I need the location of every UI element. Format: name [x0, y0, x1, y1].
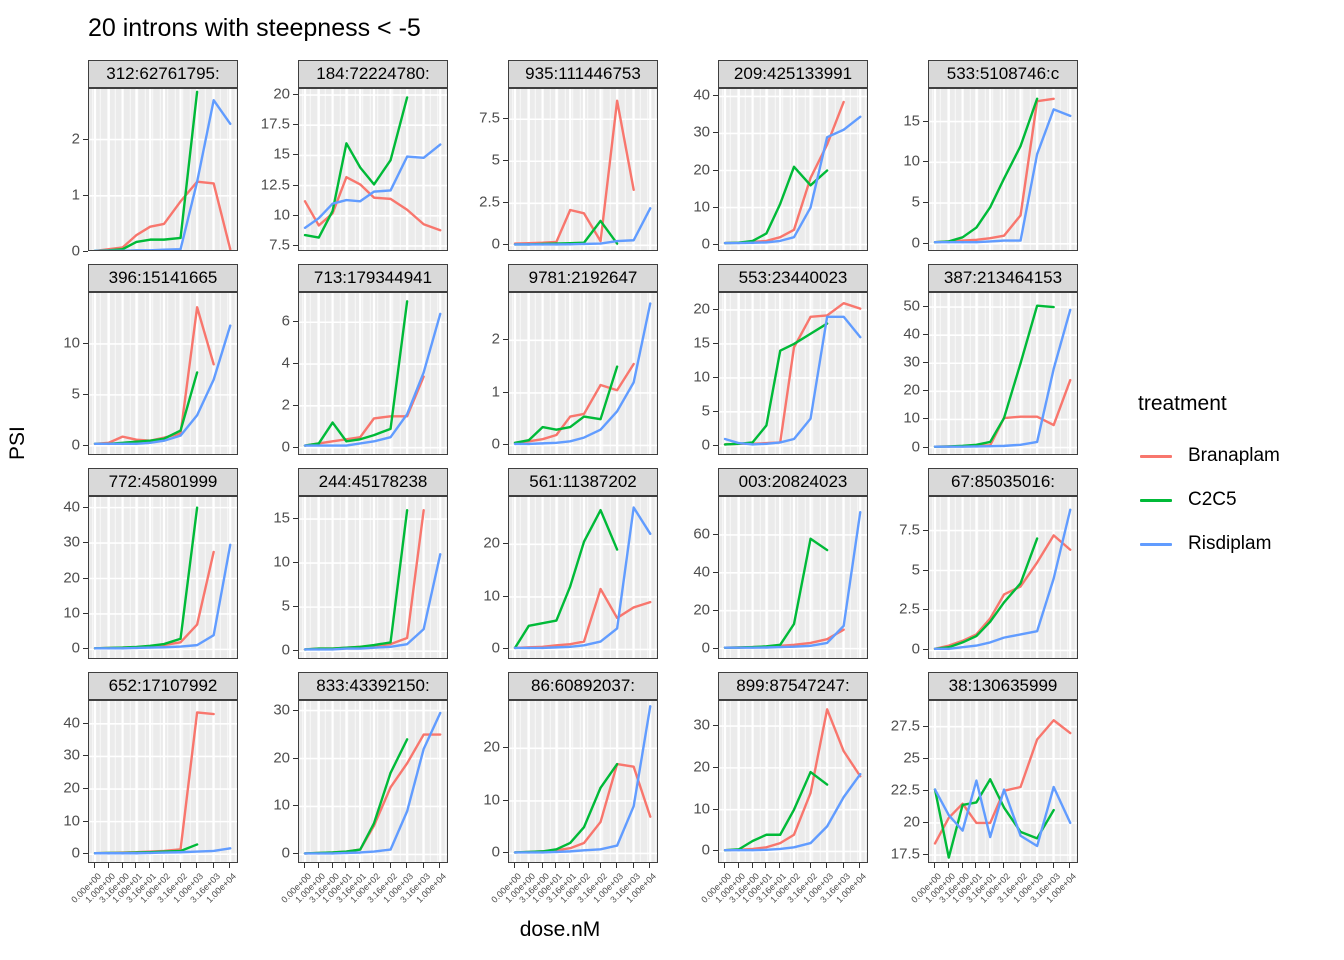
series-line-c2c5	[515, 510, 617, 648]
y-tick-label: 0	[702, 639, 710, 656]
legend-line-swatch	[1140, 499, 1172, 502]
facet-strip-label: 184:72224780:	[298, 60, 448, 88]
facet-strip-text: 772:45801999	[109, 472, 218, 492]
y-axis: 17.52022.52527.5	[868, 700, 928, 863]
y-tick-label: 10	[483, 791, 500, 808]
y-tick-label: 0	[702, 436, 710, 453]
x-tick-mark	[616, 863, 617, 868]
y-tick-label: 0	[702, 842, 710, 859]
legend-title: treatment	[1138, 392, 1280, 416]
y-tick-label: 20	[693, 300, 710, 317]
y-tick-label: 15	[903, 112, 920, 129]
facet-strip-label: 244:45178238	[298, 468, 448, 496]
x-tick-mark	[345, 863, 346, 868]
plot-panel	[718, 88, 868, 251]
y-tick-label: 17.5	[261, 116, 290, 133]
facet-panel: 244:45178238051015	[238, 468, 448, 659]
facet-strip-label: 652:17107992	[88, 672, 238, 700]
x-tick-mark	[318, 863, 319, 868]
x-tick-mark	[229, 863, 230, 868]
facet-strip-label: 9781:2192647	[508, 264, 658, 292]
y-tick-label: 22.5	[891, 781, 920, 798]
plot-panel	[718, 292, 868, 455]
x-tick-mark	[989, 863, 990, 868]
facet-strip-text: 003:20824023	[739, 472, 848, 492]
y-tick-label: 0	[492, 640, 500, 657]
y-axis: 0102030	[238, 700, 298, 863]
facet-grid: 312:62761795:012184:72224780:7.51012.515…	[0, 60, 1125, 860]
series-line-branaplam	[515, 101, 634, 244]
y-tick-label: 27.5	[891, 717, 920, 734]
facet-strip-label: 209:425133991	[718, 60, 868, 88]
series-line-c2c5	[305, 739, 407, 853]
series-line-branaplam	[305, 510, 424, 649]
x-tick-mark	[1036, 863, 1037, 868]
y-tick-label: 10	[693, 800, 710, 817]
y-tick-label: 10	[693, 198, 710, 215]
y-tick-label: 12.5	[261, 176, 290, 193]
y-tick-label: 0	[702, 235, 710, 252]
y-tick-label: 30	[693, 124, 710, 141]
x-tick-mark	[135, 863, 136, 868]
y-tick-label: 10	[693, 368, 710, 385]
facet-panel: 86:60892037:010200.00e+001.00e+003.16e+0…	[448, 672, 658, 863]
x-tick-mark	[373, 863, 374, 868]
facet-strip-label: 86:60892037:	[508, 672, 658, 700]
y-axis: 051015	[868, 88, 928, 251]
y-axis: 05101520	[658, 292, 718, 455]
x-tick-mark	[180, 863, 181, 868]
facet-panel: 312:62761795:012	[28, 60, 238, 251]
facet-panel: 561:1138720201020	[448, 468, 658, 659]
series-line-c2c5	[95, 92, 197, 251]
facet-strip-text: 209:425133991	[734, 64, 852, 84]
x-tick-mark	[810, 863, 811, 868]
y-axis: 02.557.5	[868, 496, 928, 659]
series-line-branaplam	[305, 377, 424, 446]
y-axis: 0204060	[658, 496, 718, 659]
y-tick-label: 20	[63, 780, 80, 797]
y-tick-label: 2	[492, 331, 500, 348]
y-axis: 010203040	[658, 88, 718, 251]
plot-panel	[88, 292, 238, 455]
plot-panel	[508, 700, 658, 863]
y-tick-label: 5	[912, 561, 920, 578]
facet-strip-label: 935:111446753	[508, 60, 658, 88]
x-axis: 0.00e+001.00e+003.16e+001.00e+013.16e+01…	[508, 863, 658, 923]
x-axis: 0.00e+001.00e+003.16e+001.00e+013.16e+01…	[298, 863, 448, 923]
x-tick-mark	[332, 863, 333, 868]
x-tick-mark	[1020, 863, 1021, 868]
series-line-c2c5	[725, 324, 827, 445]
y-tick-label: 20	[693, 601, 710, 618]
legend-key-icon	[1138, 489, 1174, 511]
y-tick-label: 1	[492, 383, 500, 400]
series-line-branaplam	[95, 552, 214, 648]
y-tick-label: 17.5	[891, 846, 920, 863]
plot-panel	[718, 496, 868, 659]
facet-panel: 833:43392150:01020300.00e+001.00e+003.16…	[238, 672, 448, 863]
facet-strip-text: 899:87547247:	[736, 676, 849, 696]
y-tick-label: 30	[63, 534, 80, 551]
x-tick-mark	[514, 863, 515, 868]
x-tick-mark	[843, 863, 844, 868]
y-axis: 0102030	[658, 700, 718, 863]
y-tick-label: 20	[63, 569, 80, 586]
facet-strip-text: 67:85035016:	[951, 472, 1055, 492]
legend-item-risdiplam[interactable]: Risdiplam	[1138, 522, 1280, 566]
x-tick-mark	[1003, 863, 1004, 868]
y-tick-label: 30	[903, 354, 920, 371]
x-tick-mark	[633, 863, 634, 868]
y-tick-label: 0	[492, 436, 500, 453]
series-line-c2c5	[935, 539, 1037, 649]
y-tick-label: 6	[282, 313, 290, 330]
plot-panel	[88, 88, 238, 251]
plot-panel	[508, 292, 658, 455]
x-tick-mark	[1069, 863, 1070, 868]
x-tick-mark	[962, 863, 963, 868]
facet-panel: 67:85035016:02.557.5	[868, 468, 1078, 659]
series-line-c2c5	[935, 306, 1054, 447]
legend-key-icon	[1138, 533, 1174, 555]
y-axis: 01020	[448, 496, 508, 659]
facet-strip-text: 86:60892037:	[531, 676, 635, 696]
facet-panel: 184:72224780:7.51012.51517.520	[238, 60, 448, 251]
legend-item-label: Risdiplam	[1188, 533, 1271, 555]
y-tick-label: 2.5	[899, 601, 920, 618]
series-line-c2c5	[935, 99, 1037, 242]
facet-strip-label: 553:23440023	[718, 264, 868, 292]
series-line-c2c5	[305, 510, 407, 649]
page-title: 20 introns with steepness < -5	[88, 14, 421, 43]
x-tick-mark	[1053, 863, 1054, 868]
facet-strip-text: 561:11387202	[529, 472, 636, 492]
facet-strip-label: 533:5108746:c	[928, 60, 1078, 88]
y-axis: 02.557.5	[448, 88, 508, 251]
facet-panel: 9781:2192647012	[448, 264, 658, 455]
x-tick-mark	[196, 863, 197, 868]
y-tick-label: 15	[273, 510, 290, 527]
y-tick-label: 0	[72, 845, 80, 862]
x-axis: 0.00e+001.00e+003.16e+001.00e+013.16e+01…	[88, 863, 238, 923]
facet-strip-text: 652:17107992	[109, 676, 218, 696]
x-tick-mark	[600, 863, 601, 868]
facet-strip-label: 38:130635999	[928, 672, 1078, 700]
y-tick-label: 20	[483, 739, 500, 756]
legend-item-c2c5[interactable]: C2C5	[1138, 478, 1280, 522]
series-line-branaplam	[95, 712, 214, 853]
series-line-branaplam	[515, 364, 634, 443]
legend-key-icon	[1138, 445, 1174, 467]
y-tick-label: 1	[72, 186, 80, 203]
facet-panel: 387:21346415301020304050	[868, 264, 1078, 455]
y-tick-label: 10	[903, 410, 920, 427]
facet-strip-text: 935:111446753	[525, 64, 641, 84]
y-tick-label: 40	[63, 714, 80, 731]
y-tick-label: 25	[903, 749, 920, 766]
y-tick-label: 5	[702, 402, 710, 419]
y-axis: 7.51012.51517.520	[238, 88, 298, 251]
x-axis: 0.00e+001.00e+003.16e+001.00e+013.16e+01…	[928, 863, 1078, 923]
y-tick-label: 10	[63, 812, 80, 829]
plot-panel	[298, 292, 448, 455]
series-line-branaplam	[935, 99, 1054, 242]
x-tick-mark	[752, 863, 753, 868]
y-tick-label: 15	[273, 146, 290, 163]
y-axis: 012	[448, 292, 508, 455]
y-tick-label: 15	[693, 334, 710, 351]
y-tick-label: 0	[282, 642, 290, 659]
facet-panel: 396:151416650510	[28, 264, 238, 455]
legend: treatment BranaplamC2C5Risdiplam	[1138, 392, 1280, 566]
facet-strip-text: 9781:2192647	[529, 268, 638, 288]
y-axis: 051015	[238, 496, 298, 659]
y-tick-label: 7.5	[269, 236, 290, 253]
y-tick-label: 2.5	[479, 194, 500, 211]
facet-strip-label: 67:85035016:	[928, 468, 1078, 496]
x-tick-mark	[738, 863, 739, 868]
y-tick-label: 10	[483, 587, 500, 604]
plot-panel	[718, 700, 868, 863]
x-tick-mark	[149, 863, 150, 868]
x-tick-mark	[724, 863, 725, 868]
x-tick-mark	[163, 863, 164, 868]
x-tick-mark	[934, 863, 935, 868]
x-tick-mark	[583, 863, 584, 868]
x-tick-mark	[859, 863, 860, 868]
y-tick-label: 0	[282, 845, 290, 862]
y-tick-label: 7.5	[899, 521, 920, 538]
y-tick-label: 30	[693, 717, 710, 734]
plot-panel	[508, 88, 658, 251]
chart-root: 20 introns with steepness < -5 PSI dose.…	[0, 0, 1344, 960]
facet-strip-label: 387:213464153	[928, 264, 1078, 292]
y-axis: 01020304050	[868, 292, 928, 455]
y-tick-label: 20	[903, 382, 920, 399]
y-tick-label: 0	[912, 641, 920, 658]
x-tick-mark	[569, 863, 570, 868]
x-tick-mark	[765, 863, 766, 868]
x-tick-mark	[439, 863, 440, 868]
x-tick-mark	[390, 863, 391, 868]
x-axis: 0.00e+001.00e+003.16e+001.00e+013.16e+01…	[718, 863, 868, 923]
facet-strip-text: 387:213464153	[944, 268, 1062, 288]
facet-panel: 209:425133991010203040	[658, 60, 868, 251]
y-tick-label: 5	[282, 598, 290, 615]
facet-strip-text: 38:130635999	[949, 676, 1058, 696]
y-tick-label: 2	[72, 130, 80, 147]
legend-line-swatch	[1140, 543, 1172, 546]
facet-strip-text: 312:62761795:	[106, 64, 219, 84]
x-tick-mark	[406, 863, 407, 868]
y-tick-label: 0	[72, 243, 80, 260]
y-axis: 010203040	[28, 496, 88, 659]
plot-panel	[298, 88, 448, 251]
facet-panel: 003:208240230204060	[658, 468, 868, 659]
plot-panel	[928, 88, 1078, 251]
plot-panel	[928, 496, 1078, 659]
y-axis: 01020	[448, 700, 508, 863]
y-tick-label: 10	[273, 554, 290, 571]
x-tick-mark	[948, 863, 949, 868]
x-tick-mark	[122, 863, 123, 868]
legend-item-label: C2C5	[1188, 489, 1237, 511]
facet-panel: 713:1793449410246	[238, 264, 448, 455]
plot-panel	[298, 496, 448, 659]
y-tick-label: 20	[693, 758, 710, 775]
y-tick-label: 0	[72, 640, 80, 657]
y-tick-label: 2	[282, 396, 290, 413]
y-tick-label: 10	[903, 153, 920, 170]
facet-strip-label: 772:45801999	[88, 468, 238, 496]
y-tick-label: 7.5	[479, 110, 500, 127]
plot-panel	[928, 292, 1078, 455]
facet-strip-label: 561:11387202	[508, 468, 658, 496]
y-tick-label: 5	[492, 152, 500, 169]
series-line-c2c5	[515, 367, 617, 443]
facet-strip-label: 833:43392150:	[298, 672, 448, 700]
facet-strip-text: 833:43392150:	[316, 676, 429, 696]
plot-panel	[88, 700, 238, 863]
y-tick-label: 4	[282, 355, 290, 372]
y-tick-label: 40	[903, 326, 920, 343]
x-tick-mark	[213, 863, 214, 868]
y-tick-label: 0	[492, 236, 500, 253]
y-tick-label: 10	[63, 604, 80, 621]
facet-panel: 899:87547247:01020300.00e+001.00e+003.16…	[658, 672, 868, 863]
legend-line-swatch	[1140, 455, 1172, 458]
facet-strip-text: 244:45178238	[319, 472, 428, 492]
y-tick-label: 30	[63, 747, 80, 764]
x-tick-mark	[304, 863, 305, 868]
y-tick-label: 40	[693, 87, 710, 104]
y-tick-label: 40	[693, 563, 710, 580]
y-tick-label: 20	[483, 535, 500, 552]
y-tick-label: 5	[912, 194, 920, 211]
y-tick-label: 30	[273, 701, 290, 718]
y-tick-mark	[83, 251, 88, 252]
y-tick-label: 0	[72, 436, 80, 453]
y-axis: 012	[28, 88, 88, 251]
facet-strip-label: 396:15141665	[88, 264, 238, 292]
x-tick-mark	[649, 863, 650, 868]
x-tick-mark	[108, 863, 109, 868]
y-tick-label: 0	[912, 438, 920, 455]
x-tick-mark	[528, 863, 529, 868]
series-line-c2c5	[725, 539, 827, 648]
y-tick-label: 20	[693, 161, 710, 178]
y-tick-label: 10	[273, 206, 290, 223]
facet-panel: 772:45801999010203040	[28, 468, 238, 659]
facet-strip-label: 713:179344941	[298, 264, 448, 292]
y-tick-label: 10	[273, 797, 290, 814]
x-tick-mark	[779, 863, 780, 868]
plot-panel	[508, 496, 658, 659]
x-tick-mark	[94, 863, 95, 868]
facet-panel: 652:171079920102030400.00e+001.00e+003.1…	[28, 672, 238, 863]
plot-panel	[928, 700, 1078, 863]
y-tick-label: 40	[63, 498, 80, 515]
facet-strip-text: 396:15141665	[109, 268, 218, 288]
y-tick-label: 0	[282, 438, 290, 455]
facet-strip-text: 533:5108746:c	[947, 64, 1060, 84]
legend-item-branaplam[interactable]: Branaplam	[1138, 434, 1280, 478]
legend-items: BranaplamC2C5Risdiplam	[1138, 434, 1280, 566]
y-axis: 0510	[28, 292, 88, 455]
y-axis: 010203040	[28, 700, 88, 863]
x-tick-mark	[359, 863, 360, 868]
y-tick-label: 0	[492, 844, 500, 861]
y-axis: 0246	[238, 292, 298, 455]
facet-strip-text: 553:23440023	[739, 268, 848, 288]
facet-strip-label: 899:87547247:	[718, 672, 868, 700]
y-tick-label: 0	[912, 234, 920, 251]
facet-strip-text: 184:72224780:	[316, 64, 429, 84]
facet-panel: 553:2344002305101520	[658, 264, 868, 455]
series-line-c2c5	[515, 764, 617, 852]
facet-strip-label: 003:20824023	[718, 468, 868, 496]
plot-panel	[298, 700, 448, 863]
x-tick-mark	[555, 863, 556, 868]
y-tick-label: 5	[72, 385, 80, 402]
facet-panel: 533:5108746:c051015	[868, 60, 1078, 251]
x-tick-mark	[826, 863, 827, 868]
facet-strip-label: 312:62761795:	[88, 60, 238, 88]
legend-item-label: Branaplam	[1188, 445, 1280, 467]
facet-panel: 38:13063599917.52022.52527.50.00e+001.00…	[868, 672, 1078, 863]
x-tick-mark	[423, 863, 424, 868]
y-tick-label: 20	[273, 86, 290, 103]
plot-panel	[88, 496, 238, 659]
y-tick-label: 20	[903, 813, 920, 830]
x-tick-mark	[542, 863, 543, 868]
y-tick-label: 50	[903, 298, 920, 315]
y-tick-label: 60	[693, 525, 710, 542]
x-tick-mark	[793, 863, 794, 868]
facet-panel: 935:11144675302.557.5	[448, 60, 658, 251]
facet-strip-text: 713:179344941	[314, 268, 432, 288]
y-tick-label: 20	[273, 749, 290, 766]
x-tick-mark	[975, 863, 976, 868]
y-tick-label: 10	[63, 334, 80, 351]
